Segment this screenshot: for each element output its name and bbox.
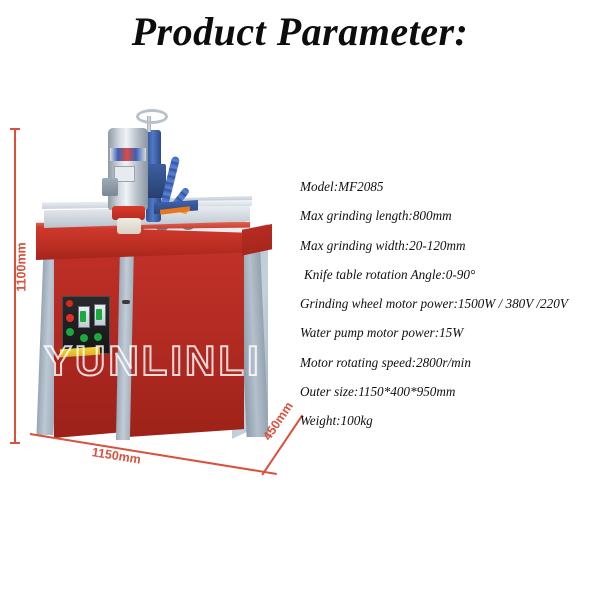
- handwheel-icon: [136, 109, 168, 124]
- panel-switch-two: [94, 304, 106, 326]
- panel-switch-one: [78, 306, 90, 328]
- spec-max-grinding-length: Max grinding length:800mm: [300, 201, 600, 230]
- spec-model: Model:MF2085: [300, 172, 600, 201]
- dimension-label-height: 1100mm: [15, 242, 29, 291]
- spec-motor-rotating-speed: Motor rotating speed:2800r/min: [300, 348, 600, 377]
- page-title: Product Parameter:: [0, 8, 600, 55]
- spec-outer-size: Outer size:1150*400*950mm: [300, 377, 600, 406]
- grinding-wheel: [117, 218, 141, 234]
- panel-button-green: [66, 328, 74, 336]
- spec-grinding-wheel-motor-power: Grinding wheel motor power:1500W / 380V …: [300, 289, 600, 318]
- specification-list: Model:MF2085 Max grinding length:800mm M…: [300, 172, 600, 436]
- motor-junction-box: [102, 178, 118, 196]
- motor-brand-label: [110, 148, 146, 161]
- panel-indicator-red: [66, 300, 73, 307]
- machine-illustration: [14, 100, 300, 500]
- spec-weight: Weight:100kg: [300, 406, 600, 435]
- panel-button-green-3: [94, 333, 102, 341]
- panel-button-green-2: [80, 334, 88, 342]
- dimension-cap-bottom: [10, 442, 20, 444]
- spec-knife-table-rotation-angle: Knife table rotation Angle:0-90°: [300, 260, 600, 289]
- product-parameter-page: Product Parameter:: [0, 0, 600, 600]
- spec-water-pump-motor-power: Water pump motor power:15W: [300, 318, 600, 347]
- cabinet-door-right: [128, 240, 244, 437]
- cabinet-door-handle: [122, 300, 130, 304]
- spec-max-grinding-width: Max grinding width:20-120mm: [300, 231, 600, 260]
- dimension-cap-top: [10, 128, 20, 130]
- panel-button-red: [66, 314, 74, 322]
- product-photo: 1100mm 1150mm 450mm YUNLINLI: [14, 100, 300, 500]
